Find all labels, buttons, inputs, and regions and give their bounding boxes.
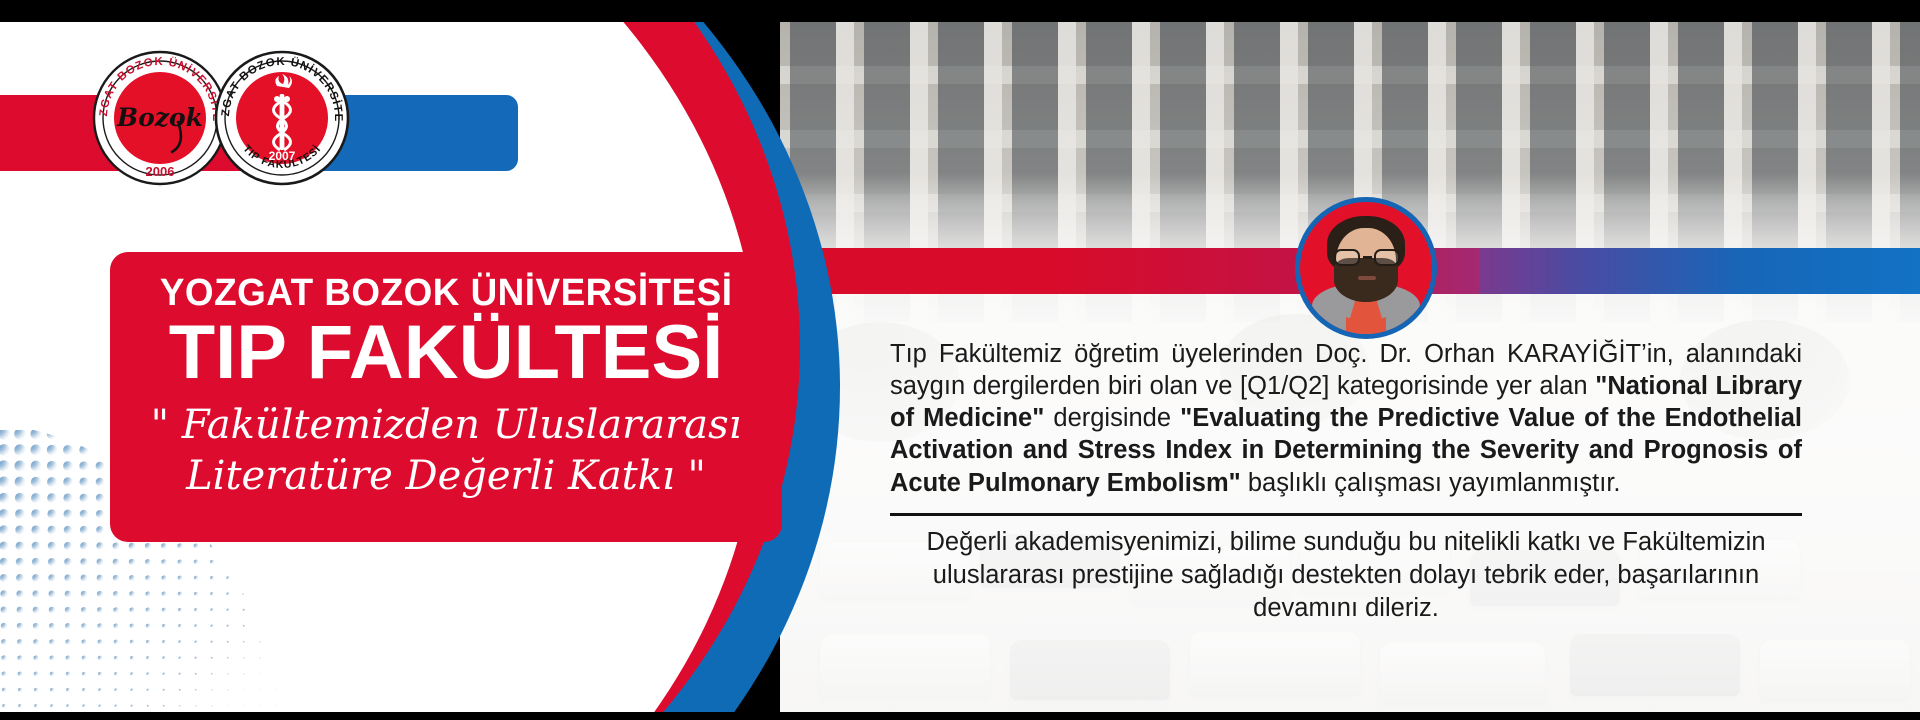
plaque-university-name: YOZGAT BOZOK ÜNİVERSİTESİ bbox=[160, 274, 733, 312]
top-letterbox-bar bbox=[0, 0, 1920, 22]
announcement-text-column: Tıp Fakültemiz öğretim üyelerinden Doç. … bbox=[890, 338, 1802, 625]
svg-text:2007: 2007 bbox=[269, 149, 296, 163]
announcement-closing: Değerli akademisyenimizi, bilime sunduğu… bbox=[890, 526, 1802, 625]
plaque-slogan-line-2: Literatüre Değerli Katkı " bbox=[186, 453, 706, 499]
bottom-letterbox-bar bbox=[0, 712, 1920, 720]
paragraph-text-run: başlıklı çalışması yayımlanmıştır. bbox=[1241, 469, 1621, 497]
paragraph-text-run: dergisinde bbox=[1044, 404, 1180, 432]
plaque-slogan: " Fakültemizden Uluslararası Literatüre … bbox=[135, 400, 758, 502]
portrait-lens-left bbox=[1334, 249, 1360, 266]
ribbon-blue-segment bbox=[1479, 248, 1920, 294]
avatar bbox=[1295, 197, 1437, 339]
section-divider bbox=[890, 513, 1802, 516]
portrait-mouth bbox=[1358, 276, 1376, 280]
plaque-faculty-name: TIP FAKÜLTESİ bbox=[169, 314, 724, 392]
portrait-glasses-bridge bbox=[1363, 256, 1372, 259]
glasses-icon bbox=[1333, 249, 1401, 266]
plaque-slogan-line-1: " Fakültemizden Uluslararası bbox=[151, 402, 742, 448]
university-seal-icon[interactable]: YOZGAT BOZOK ÜNİVERSİTESİ Bozok 2006 bbox=[92, 50, 228, 191]
announcement-paragraph: Tıp Fakültemiz öğretim üyelerinden Doç. … bbox=[890, 338, 1802, 499]
medical-faculty-seal-icon[interactable]: YOZGAT BOZOK ÜNİVERSİTESİ TIP FAKÜLTESİ … bbox=[214, 50, 350, 191]
svg-text:Bozok: Bozok bbox=[116, 103, 203, 132]
svg-text:2006: 2006 bbox=[146, 164, 175, 179]
portrait-lens-right bbox=[1374, 249, 1400, 266]
poster-stage: YOZGAT BOZOK ÜNİVERSİTESİ Bozok 2006 YOZ… bbox=[0, 0, 1920, 720]
logo-group: YOZGAT BOZOK ÜNİVERSİTESİ Bozok 2006 YOZ… bbox=[92, 50, 350, 191]
title-plaque: YOZGAT BOZOK ÜNİVERSİTESİ TIP FAKÜLTESİ … bbox=[110, 252, 782, 542]
